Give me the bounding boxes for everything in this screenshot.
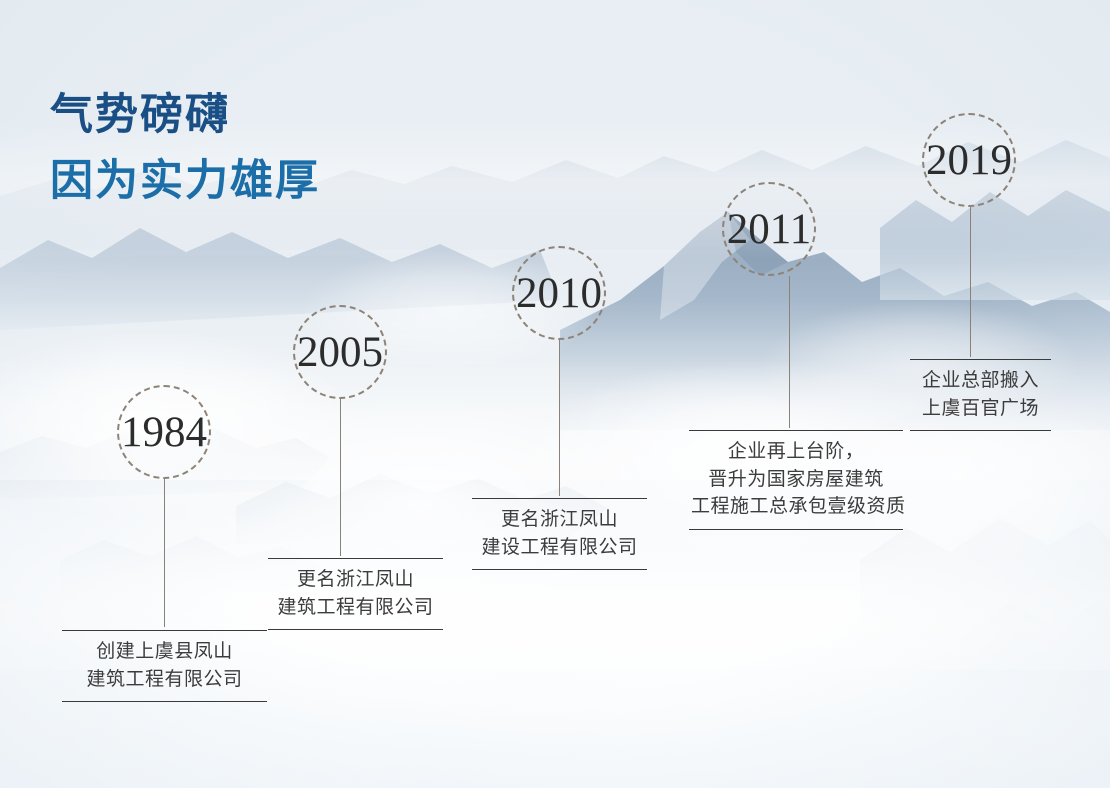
caption-line: 建筑工程有限公司 [270, 594, 441, 622]
node-caption: 企业总部搬入 上虞百官广场 [910, 359, 1051, 431]
node-caption: 更名浙江凤山 建设工程有限公司 [472, 498, 647, 570]
year-circle-2011: 2011 [722, 182, 816, 276]
year-label: 2005 [297, 331, 383, 374]
node-caption: 企业再上台阶， 晋升为国家房屋建筑 工程施工总承包壹级资质 [689, 430, 903, 530]
connector-line [164, 479, 165, 627]
year-circle-2019: 2019 [922, 113, 1016, 207]
node-caption: 创建上虞县凤山 建筑工程有限公司 [62, 630, 267, 702]
connector-line [970, 207, 971, 357]
year-label: 2011 [727, 208, 811, 251]
caption-line: 晋升为国家房屋建筑 [691, 466, 901, 494]
year-label: 1984 [121, 411, 207, 454]
year-label: 2019 [926, 139, 1012, 182]
year-circle-2010: 2010 [512, 246, 606, 340]
connector-line [340, 399, 341, 556]
caption-line: 更名浙江凤山 [474, 506, 645, 534]
node-caption: 更名浙江凤山 建筑工程有限公司 [268, 558, 443, 630]
caption-line: 上虞百官广场 [912, 395, 1049, 423]
caption-line: 企业总部搬入 [912, 367, 1049, 395]
connector-line [789, 276, 790, 428]
year-circle-2005: 2005 [293, 305, 387, 399]
caption-line: 创建上虞县凤山 [64, 638, 265, 666]
caption-line: 企业再上台阶， [691, 438, 901, 466]
title-line-2: 因为实力雄厚 [50, 154, 320, 209]
caption-line: 工程施工总承包壹级资质 [691, 493, 901, 521]
year-circle-1984: 1984 [117, 385, 211, 479]
caption-line: 建筑工程有限公司 [64, 666, 265, 694]
slide-canvas: 气势磅礴 因为实力雄厚 1984 创建上虞县凤山 建筑工程有限公司 2005 更… [0, 0, 1110, 788]
page-title: 气势磅礴 因为实力雄厚 [50, 88, 320, 209]
year-label: 2010 [516, 272, 602, 315]
title-line-1: 气势磅礴 [50, 88, 320, 143]
connector-line [559, 340, 560, 496]
caption-line: 更名浙江凤山 [270, 566, 441, 594]
caption-line: 建设工程有限公司 [474, 534, 645, 562]
